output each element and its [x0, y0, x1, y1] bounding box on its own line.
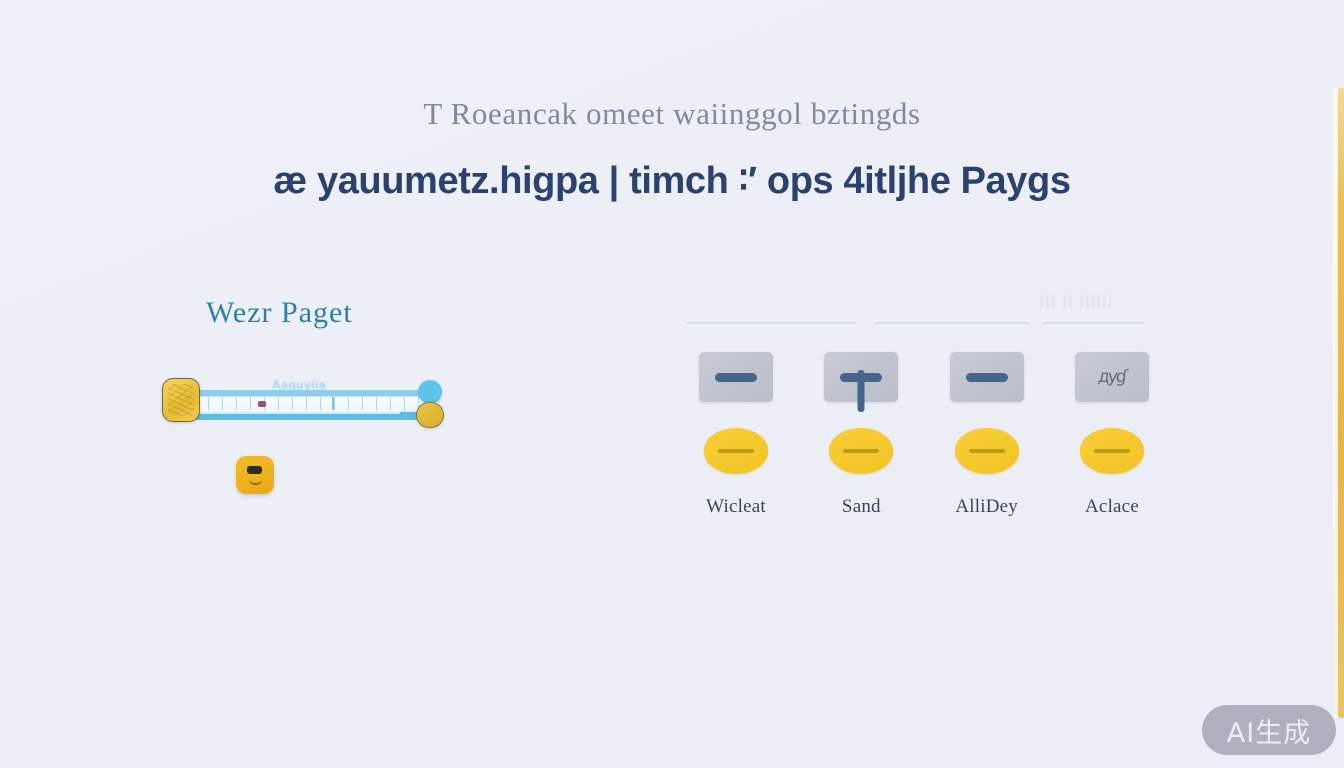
- right-panel: ||| || |||||| Wicleat S: [684, 288, 1164, 518]
- yellow-pill-line-icon[interactable]: [704, 428, 768, 474]
- title-block: T Roeancak omeet waiinggol bztingds æ ya…: [0, 96, 1344, 203]
- tile-cross-vertical-icon: [858, 370, 865, 412]
- divider-row: ||| || ||||||: [684, 288, 1164, 332]
- tile-bar-shape-icon: [966, 373, 1008, 382]
- ruler-marker-dot-icon: [258, 401, 266, 407]
- slider-control[interactable]: Aaquyiia: [160, 376, 436, 430]
- card-label: Wicleat: [706, 496, 766, 518]
- slider-knob-blue[interactable]: [418, 380, 442, 404]
- page-root: T Roeancak omeet waiinggol bztingds æ ya…: [0, 0, 1344, 768]
- grey-tile-cross-icon[interactable]: [824, 352, 898, 402]
- pill-line-shape-icon: [843, 449, 879, 453]
- divider-first: [686, 322, 856, 324]
- right-panel-ghost-heading: ||| || ||||||: [1040, 292, 1146, 314]
- yellow-pill-line-icon[interactable]: [955, 428, 1019, 474]
- ai-generated-watermark: AI生成: [1202, 705, 1336, 755]
- pill-line-shape-icon: [969, 449, 1005, 453]
- pill-line-shape-icon: [718, 449, 754, 453]
- page-title-primary: T Roeancak omeet waiinggol bztingds: [0, 96, 1344, 132]
- card-item[interactable]: Sand: [809, 352, 913, 518]
- card-grid: Wicleat Sand AlliDey: [684, 352, 1164, 518]
- grey-tile-scribble-icon[interactable]: дуɠ: [1075, 352, 1149, 402]
- left-panel: Wezr Paget Aaquyiia: [160, 296, 460, 430]
- left-panel-heading: Wezr Paget: [160, 296, 460, 330]
- slider-handle-left[interactable]: [162, 378, 200, 422]
- card-label: Aclace: [1085, 496, 1139, 518]
- card-item[interactable]: AlliDey: [935, 352, 1039, 518]
- pill-line-shape-icon: [1094, 449, 1130, 453]
- tile-scribble-glyph-icon: дуɠ: [1097, 367, 1127, 387]
- divider-second: [874, 322, 1030, 324]
- yellow-pill-line-icon[interactable]: [829, 428, 893, 474]
- mini-button-mark-icon: [247, 466, 262, 474]
- slider-ghost-label: Aaquyiia: [272, 378, 326, 392]
- slider-track-lower-highlight: [190, 410, 400, 414]
- card-item[interactable]: Wicleat: [684, 352, 788, 518]
- card-label: AlliDey: [955, 496, 1018, 518]
- tile-bar-shape-icon: [715, 373, 757, 382]
- yellow-pill-line-icon[interactable]: [1080, 428, 1144, 474]
- divider-third: [1042, 322, 1144, 324]
- mini-button-underline-icon: [249, 479, 262, 485]
- grey-tile-bar-icon[interactable]: [699, 352, 773, 402]
- slider-knob-gold[interactable]: [416, 402, 444, 428]
- mini-action-button[interactable]: [236, 456, 274, 494]
- card-item[interactable]: дуɠ Aclace: [1060, 352, 1164, 518]
- card-label: Sand: [842, 496, 881, 518]
- page-title-secondary: æ yauumetz.higpa | timch ∶′ ops 4itljhe …: [0, 158, 1344, 203]
- grey-tile-bar-icon[interactable]: [950, 352, 1024, 402]
